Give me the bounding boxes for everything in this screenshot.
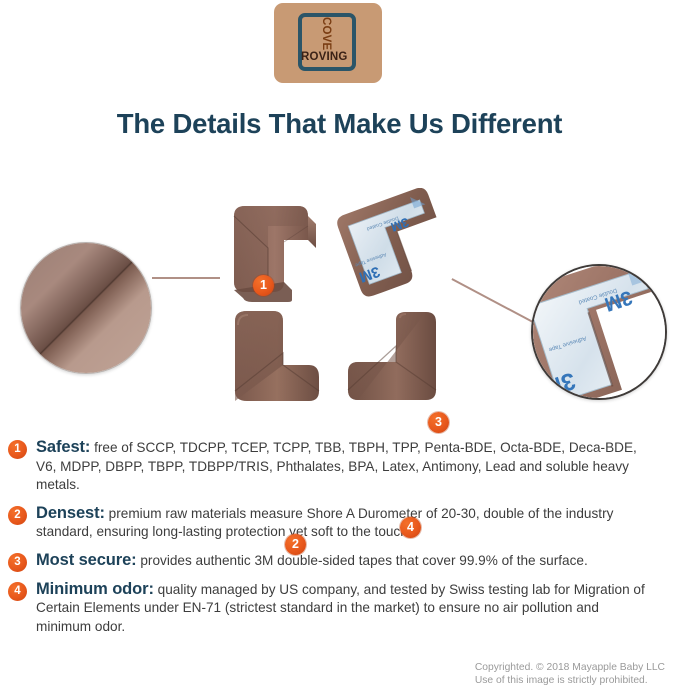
copyright-notice: Copyrighted. © 2018 Mayapple Baby LLC Us…	[475, 661, 665, 687]
feature-badge-2: 2	[8, 506, 27, 525]
feature-item-1: 1 Safest: free of SCCP, TDCPP, TCEP, TCP…	[0, 438, 679, 495]
brand-logo: ROVING COVE	[274, 3, 382, 83]
svg-text:3M: 3M	[539, 367, 579, 398]
product-photo-1	[228, 200, 324, 313]
leader-line-right	[452, 278, 534, 323]
foam-material-surface	[21, 243, 151, 373]
feature-lede-3: Most secure:	[36, 551, 137, 569]
photo-badge-3: 3	[428, 412, 449, 433]
copyright-line-2: Use of this image is strictly prohibited…	[475, 674, 665, 687]
magnifier-3m-tape-detail: 3M 3M Double Coated Adhesive Tape	[531, 264, 667, 400]
leader-line-left	[152, 277, 220, 279]
logo-tile: ROVING COVE	[274, 3, 382, 83]
feature-lede-4: Minimum odor:	[36, 580, 154, 598]
logo-word-roving: ROVING	[301, 51, 348, 63]
magnifier-foam-material	[20, 242, 152, 374]
photo-badge-4: 4	[400, 517, 421, 538]
feature-body-1: free of SCCP, TDCPP, TCEP, TCPP, TBB, TB…	[36, 440, 637, 492]
feature-body-2: premium raw materials measure Shore A Du…	[36, 506, 613, 540]
feature-body-3: provides authentic 3M double-sided tapes…	[137, 553, 588, 568]
page-title: The Details That Make Us Different	[0, 108, 679, 140]
product-photo-4	[340, 306, 444, 415]
feature-badge-3: 3	[8, 553, 27, 572]
feature-item-3: 3 Most secure: provides authentic 3M dou…	[0, 551, 679, 571]
feature-lede-2: Densest:	[36, 504, 105, 522]
product-photo-3: 3M 3M Double Coated Adhesive Tape	[337, 188, 459, 303]
feature-item-4: 4 Minimum odor: quality managed by US co…	[0, 580, 679, 637]
logo-word-cove: COVE	[320, 17, 332, 50]
feature-badge-4: 4	[8, 582, 27, 601]
copyright-line-1: Copyrighted. © 2018 Mayapple Baby LLC	[475, 661, 665, 674]
photo-badge-2: 2	[285, 534, 306, 555]
feature-lede-1: Safest:	[36, 438, 90, 456]
feature-item-2: 2 Densest: premium raw materials measure…	[0, 504, 679, 542]
photo-badge-1: 1	[253, 275, 274, 296]
feature-list: 1 Safest: free of SCCP, TDCPP, TCEP, TCP…	[0, 438, 679, 645]
product-photo-stage: 1 2	[0, 178, 679, 418]
product-photo-2	[225, 303, 321, 416]
feature-badge-1: 1	[8, 440, 27, 459]
